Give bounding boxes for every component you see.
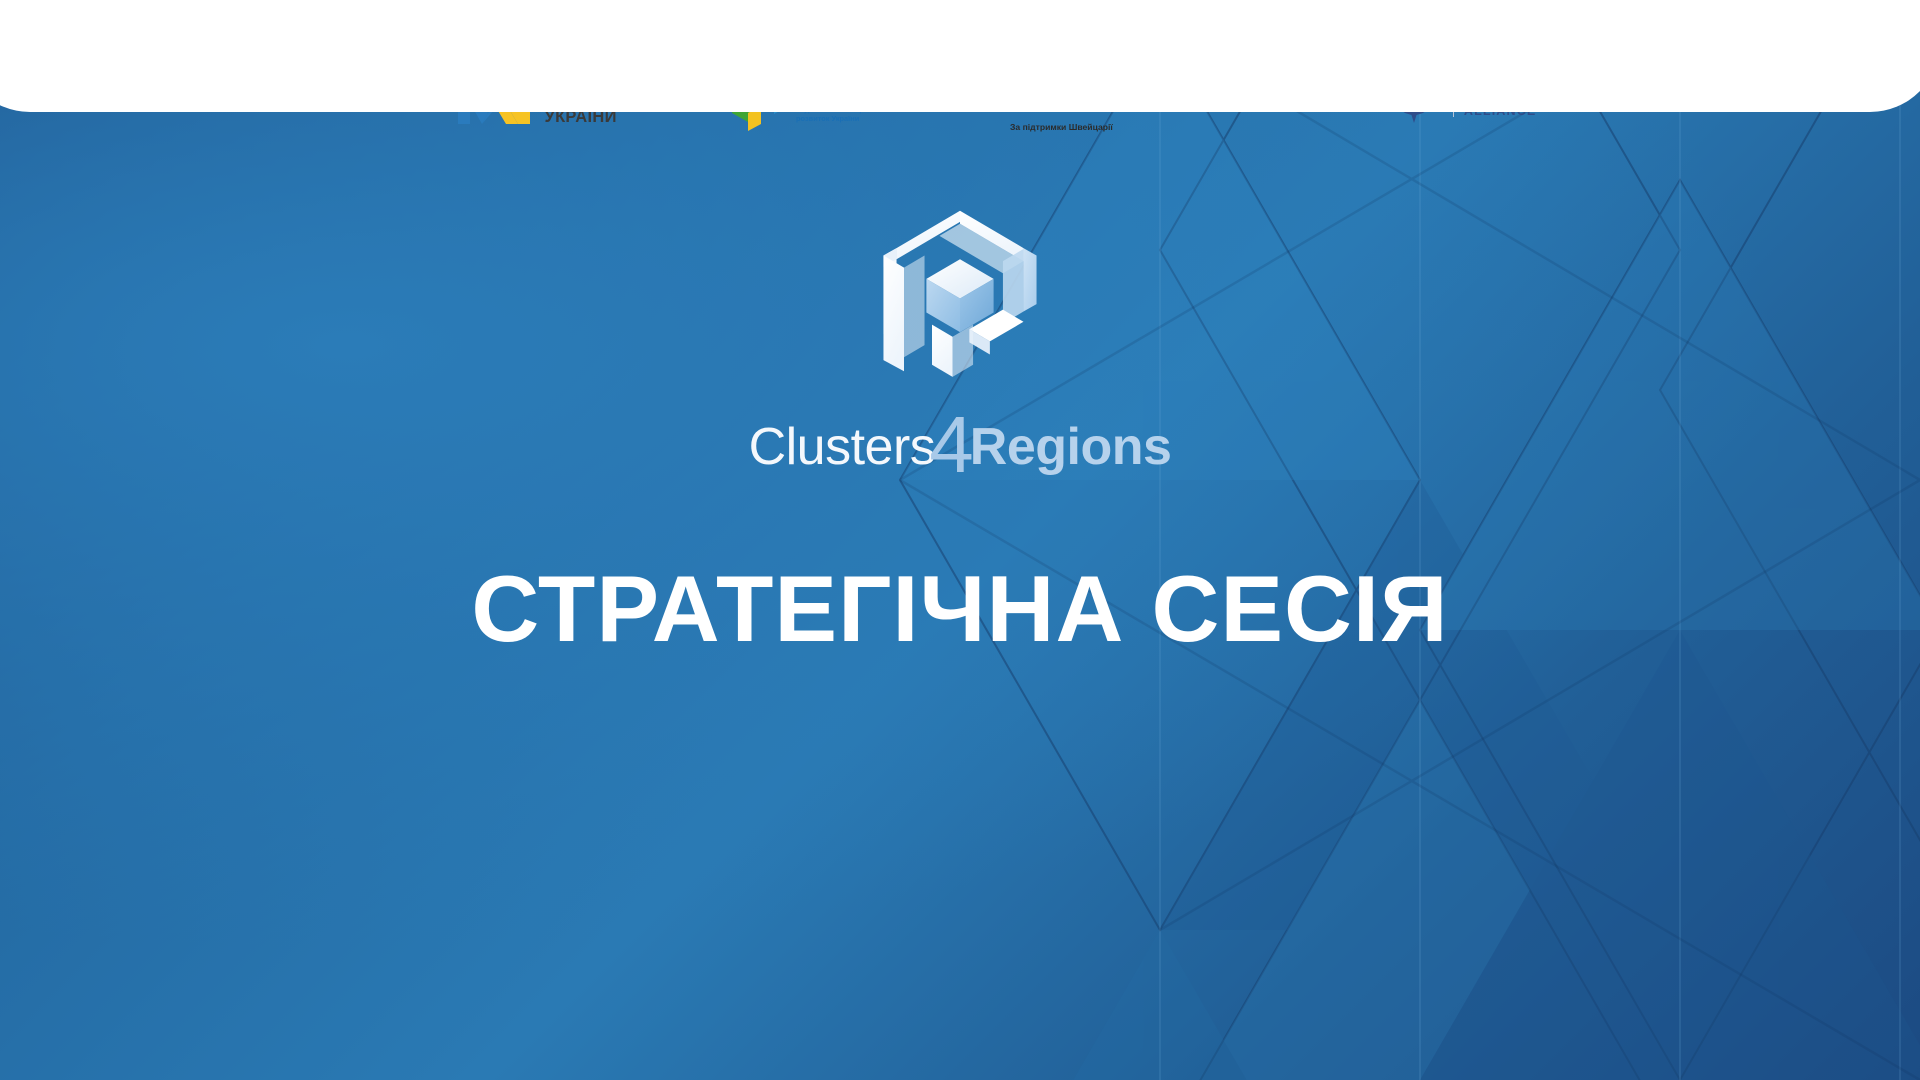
wordmark-four: 4 [929,405,974,485]
presentation-slide: МІНІСТЕРСТВО ЕКОНОМІКИ УКРАЇНИ Проєкт UC… [0,0,1920,1080]
clusters4regions-wordmark: Clusters 4 Regions [749,397,1172,477]
partner-logo-header-bar [0,0,1920,112]
background-geometric-pattern [0,0,1920,1080]
wordmark-regions: Regions [970,421,1172,473]
swiss-support-line: За підтримки Швейцарії [1010,122,1113,132]
brand-block: Clusters 4 Regions [0,205,1920,477]
slide-title: СТРАТЕГІЧНА СЕСІЯ [0,555,1920,663]
wordmark-clusters: Clusters [749,421,936,473]
clusters4regions-hexagon-mark-icon [876,205,1044,377]
